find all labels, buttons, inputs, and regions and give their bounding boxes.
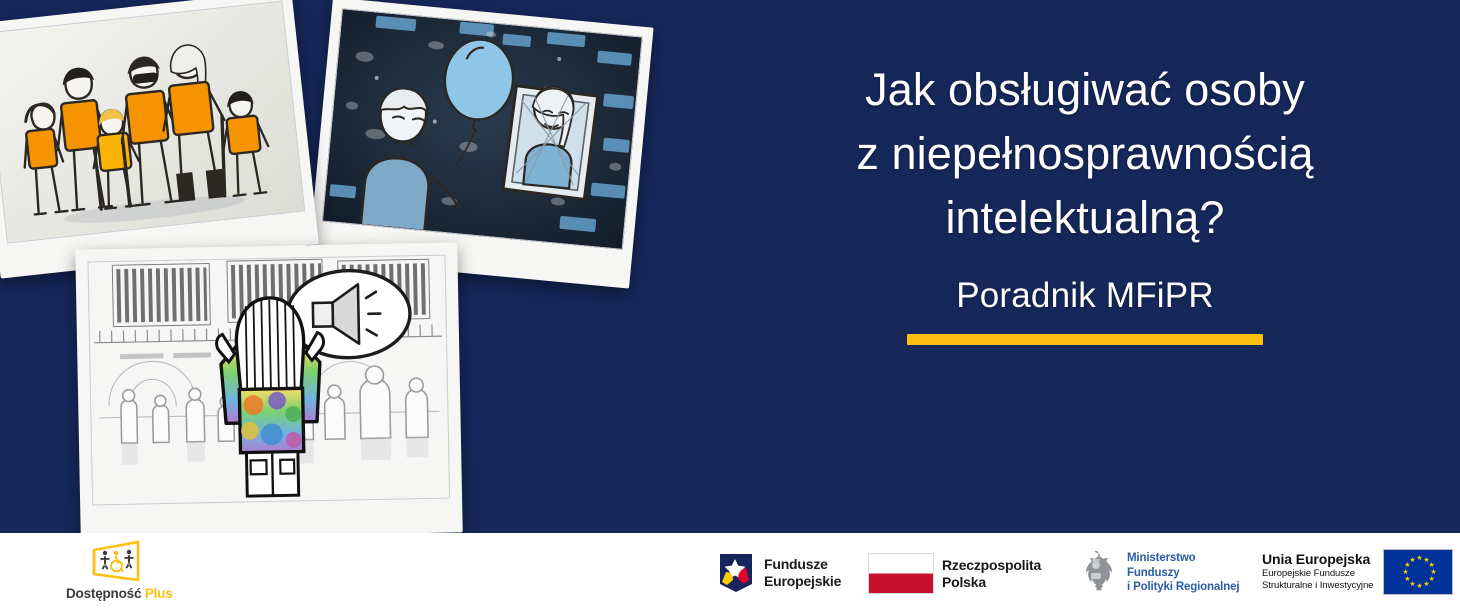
eu-star-icon: ★ xyxy=(1404,563,1410,569)
eu-star-icon: ★ xyxy=(1409,558,1415,564)
ue-line1: Unia Europejska xyxy=(1262,551,1373,568)
polaroid-photo-station xyxy=(75,242,462,533)
fe-line1: Fundusze xyxy=(764,556,841,573)
rp-line1: Rzeczpospolita xyxy=(942,557,1041,574)
eu-flag-icon: ★★★★★★★★★★★★ xyxy=(1383,549,1453,595)
eu-star-icon: ★ xyxy=(1423,582,1429,588)
polish-eagle-icon xyxy=(1073,547,1119,599)
mfipr-line1: Ministerstwo xyxy=(1127,551,1239,566)
mfipr-line3: i Polityki Regionalnej xyxy=(1127,580,1239,595)
eu-star-icon: ★ xyxy=(1404,577,1410,583)
ue-line2: Europejskie Fundusze xyxy=(1262,568,1373,580)
polish-flag-icon xyxy=(868,553,934,594)
title-block: Jak obsługiwać osoby z niepełnosprawnośc… xyxy=(735,58,1435,345)
logo-dostepnosc-plus: Dostępność Plus xyxy=(66,539,173,601)
logo-dostepnosc-label: Dostępność Plus xyxy=(66,586,173,601)
title-underline-bar xyxy=(907,334,1263,345)
mfipr-line2: Funduszy xyxy=(1127,566,1239,581)
eu-star-icon: ★ xyxy=(1402,570,1408,576)
rp-line2: Polska xyxy=(942,574,1041,591)
eu-star-icon: ★ xyxy=(1416,584,1422,590)
ue-line3: Strukturalne i Inwestycyjne xyxy=(1262,580,1373,592)
dostepnosc-word: Dostępność xyxy=(66,586,141,601)
logo-unia-europejska: Unia Europejska Europejskie Fundusze Str… xyxy=(1262,549,1453,595)
logo-ue-label: Unia Europejska Europejskie Fundusze Str… xyxy=(1262,551,1373,592)
photo-family-group xyxy=(0,0,305,243)
family-group-illustration xyxy=(0,2,304,243)
eu-star-icon: ★ xyxy=(1416,556,1422,562)
logo-fe-label: Fundusze Europejskie xyxy=(764,556,841,589)
poster-page: Jak obsługiwać osoby z niepełnosprawnośc… xyxy=(0,0,1460,616)
footer-logo-bar: Dostępność Plus Fundusze Europejskie Rze… xyxy=(0,533,1460,616)
fe-flag-icon xyxy=(716,550,756,596)
hero-section: Jak obsługiwać osoby z niepełnosprawnośc… xyxy=(0,0,1460,533)
photo-station-noise xyxy=(87,255,450,506)
station-noise-illustration xyxy=(88,256,449,505)
plus-word: Plus xyxy=(145,586,173,601)
logo-rp-label: Rzeczpospolita Polska xyxy=(942,557,1041,590)
fe-line2: Europejskie xyxy=(764,573,841,590)
page-subtitle: Poradnik MFiPR xyxy=(735,276,1435,316)
logo-rzeczpospolita-polska: Rzeczpospolita Polska xyxy=(868,553,1041,594)
page-title: Jak obsługiwać osoby z niepełnosprawnośc… xyxy=(735,58,1435,250)
logo-mfipr-label: Ministerstwo Funduszy i Polityki Regiona… xyxy=(1127,551,1239,595)
photo-night-window xyxy=(322,8,643,249)
night-window-illustration xyxy=(323,9,642,248)
eu-star-icon: ★ xyxy=(1409,582,1415,588)
logo-fundusze-europejskie: Fundusze Europejskie xyxy=(716,550,841,596)
polaroid-photo-family xyxy=(0,0,319,279)
accessibility-door-icon xyxy=(80,539,158,583)
logo-ministerstwo-funduszy: Ministerstwo Funduszy i Polityki Regiona… xyxy=(1073,547,1239,599)
